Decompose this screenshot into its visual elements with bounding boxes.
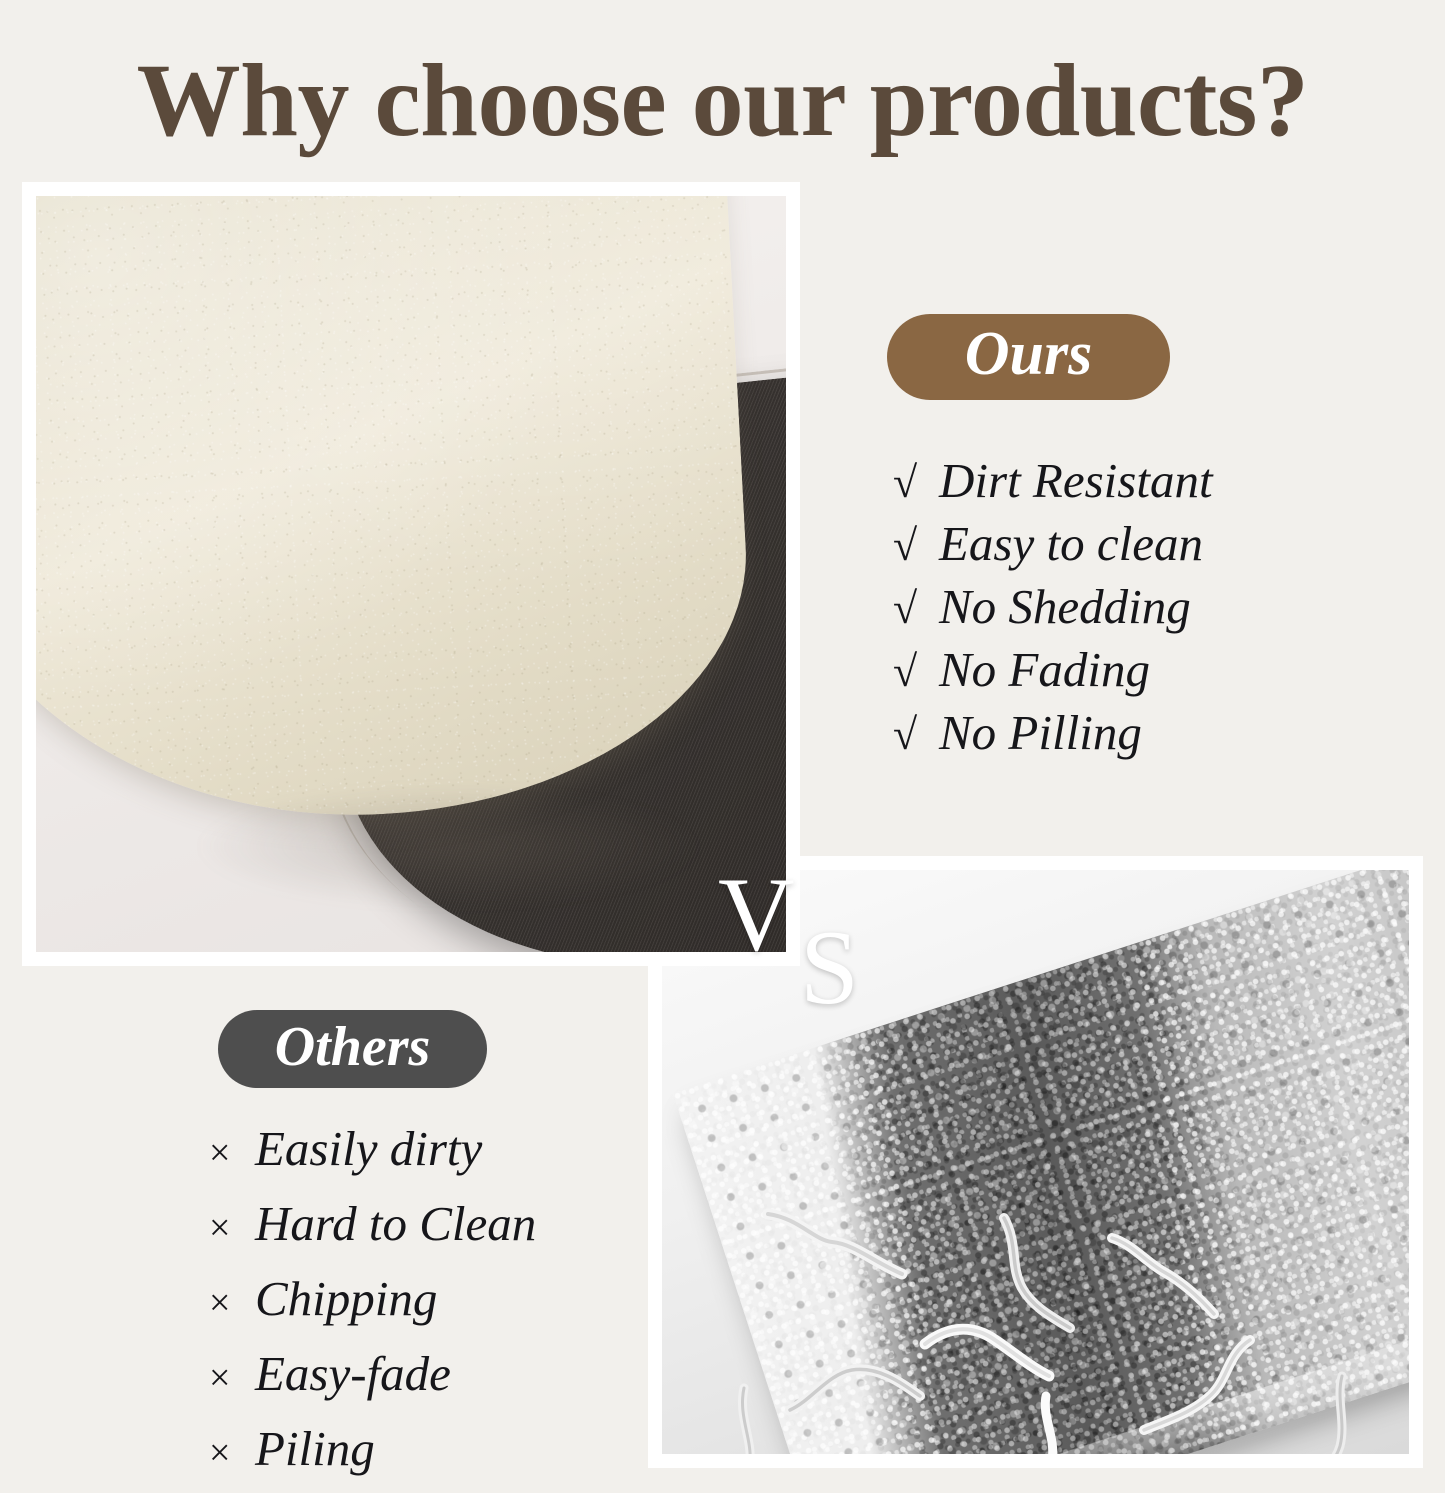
cross-icon: ×	[209, 1281, 255, 1325]
page-title: Why choose our products?	[0, 46, 1445, 155]
list-item: × Hard to Clean	[209, 1195, 536, 1252]
check-icon: √	[893, 457, 939, 508]
others-feature-list: × Easily dirty × Hard to Clean × Chippin…	[209, 1120, 536, 1493]
cross-icon: ×	[209, 1206, 255, 1250]
others-feature-label: Chipping	[255, 1270, 437, 1327]
shed-thread	[1302, 1370, 1372, 1454]
list-item: √ No Pilling	[893, 704, 1213, 761]
others-feature-label: Easily dirty	[255, 1120, 482, 1177]
list-item: √ Easy to clean	[893, 515, 1213, 572]
check-icon: √	[893, 583, 939, 634]
check-icon: √	[893, 520, 939, 571]
list-item: × Piling	[209, 1420, 536, 1477]
others-feature-label: Piling	[255, 1420, 375, 1477]
cross-icon: ×	[209, 1356, 255, 1400]
shed-thread	[1102, 1228, 1222, 1324]
list-item: √ No Shedding	[893, 578, 1213, 635]
shed-thread	[1132, 1332, 1262, 1442]
shed-thread	[762, 1200, 912, 1286]
ours-feature-label: No Shedding	[939, 578, 1191, 635]
list-item: × Chipping	[209, 1270, 536, 1327]
check-icon: √	[893, 646, 939, 697]
list-item: × Easily dirty	[209, 1120, 536, 1177]
ours-photo-inner	[36, 196, 786, 952]
ours-feature-label: No Pilling	[939, 704, 1142, 761]
ours-product-photo	[22, 182, 800, 966]
comparison-infographic: Why choose our products?	[0, 0, 1445, 1493]
list-item: × Easy-fade	[209, 1345, 536, 1402]
cross-icon: ×	[209, 1131, 255, 1175]
others-badge: Others	[218, 1010, 487, 1088]
shed-thread	[917, 1310, 1057, 1390]
ours-badge: Ours	[887, 314, 1170, 400]
list-item: √ No Fading	[893, 641, 1213, 698]
check-icon: √	[893, 709, 939, 760]
ours-feature-list: √ Dirt Resistant √ Easy to clean √ No Sh…	[893, 452, 1213, 767]
list-item: √ Dirt Resistant	[893, 452, 1213, 509]
cross-icon: ×	[209, 1431, 255, 1475]
shed-thread	[1022, 1390, 1082, 1454]
ours-feature-label: Easy to clean	[939, 515, 1203, 572]
shed-thread	[722, 1382, 792, 1454]
ours-feature-label: Dirt Resistant	[939, 452, 1213, 509]
shed-thread	[782, 1340, 927, 1432]
ours-feature-label: No Fading	[939, 641, 1150, 698]
others-feature-label: Hard to Clean	[255, 1195, 536, 1252]
ours-photo-fold-shadow	[201, 786, 696, 907]
others-feature-label: Easy-fade	[255, 1345, 451, 1402]
